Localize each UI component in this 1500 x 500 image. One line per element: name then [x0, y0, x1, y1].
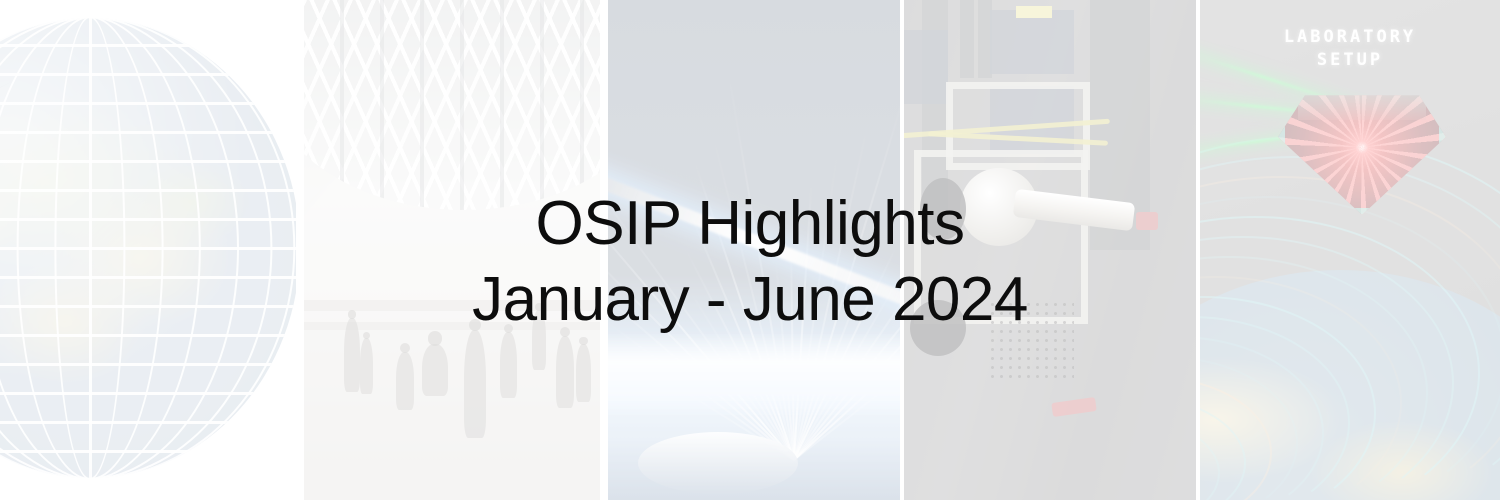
visitor-silhouette [396, 352, 414, 410]
visitor-silhouette [422, 344, 448, 396]
caption-line-1: LABORATORY [1200, 26, 1500, 49]
osip-highlights-banner: LABORATORY SETUP OSIP Highlights January… [0, 0, 1500, 500]
visitor-silhouette [500, 332, 517, 398]
title-line-2: January - June 2024 [0, 262, 1500, 338]
visitor-silhouette [464, 330, 486, 438]
visitor-silhouette [556, 336, 574, 408]
hall-truss-ceiling [304, 0, 600, 210]
title-line-1: OSIP Highlights [0, 186, 1500, 262]
laboratory-setup-caption: LABORATORY SETUP [1200, 26, 1500, 72]
rack-blue-module-top [990, 10, 1074, 74]
truss-ribs [304, 0, 600, 210]
yellow-label-tag [1016, 6, 1052, 18]
rack-slot-a [960, 0, 974, 78]
fibre-glow-band [608, 332, 900, 418]
visitor-silhouette [576, 344, 591, 402]
fibre-disc [638, 432, 798, 494]
caption-line-2: SETUP [1200, 49, 1500, 72]
banner-title: OSIP Highlights January - June 2024 [0, 186, 1500, 339]
visitor-silhouette [360, 338, 373, 394]
rack-blue-module-left [904, 30, 948, 104]
